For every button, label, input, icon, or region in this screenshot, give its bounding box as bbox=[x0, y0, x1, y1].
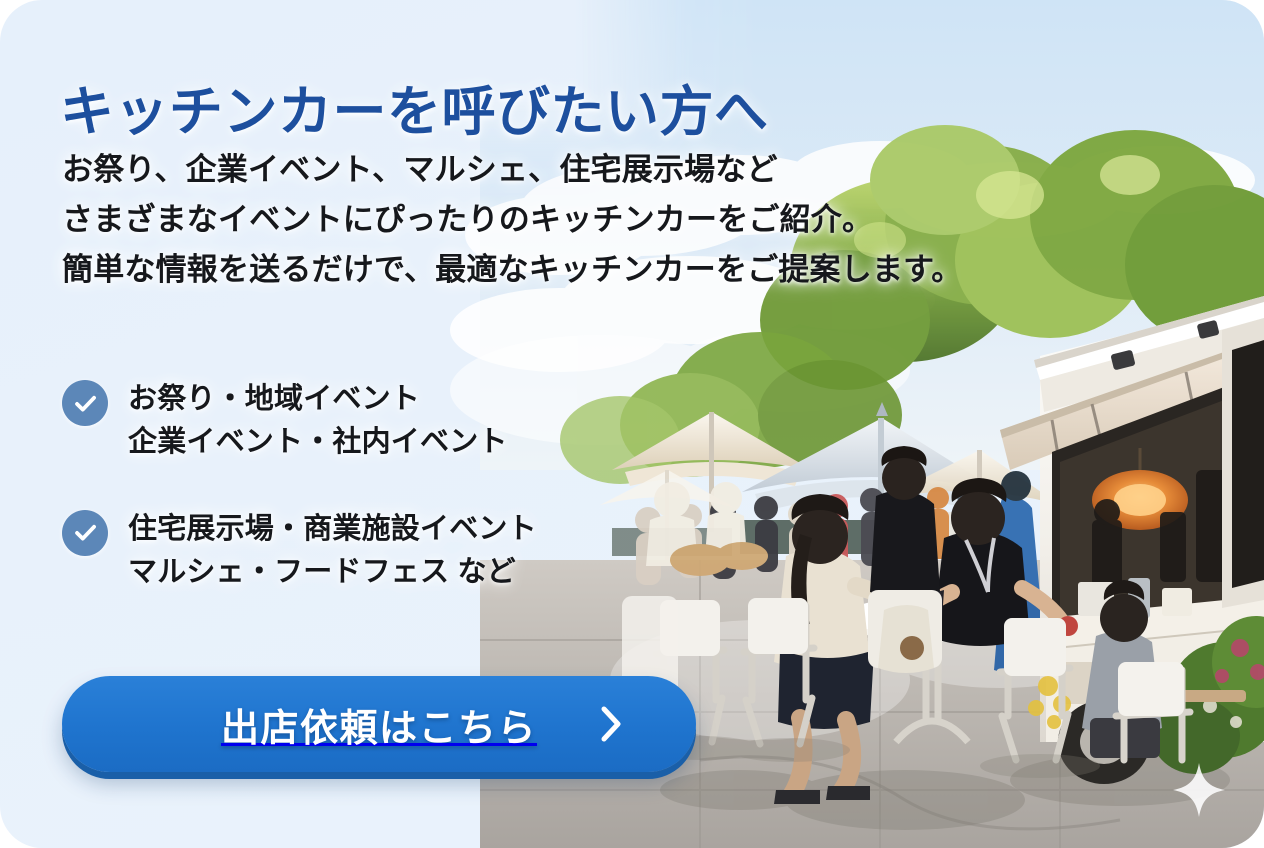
lead-line-2: さまざまなイベントにぴったりのキッチンカーをご紹介。 bbox=[62, 195, 962, 245]
checklist-text: 住宅展示場・商業施設イベント マルシェ・フードフェス など bbox=[128, 508, 537, 594]
check-circle-icon bbox=[62, 510, 108, 556]
feature-checklist: お祭り・地域イベント 企業イベント・社内イベント 住宅展示場・商業施設イベント … bbox=[62, 378, 537, 638]
lead-paragraph: お祭り、企業イベント、マルシェ、住宅展示場など さまざまなイベントにぴったりのキ… bbox=[62, 145, 962, 296]
cta-label: 出店依頼はこちら bbox=[221, 697, 537, 752]
request-application-button[interactable]: 出店依頼はこちら bbox=[62, 676, 696, 772]
checklist-text: お祭り・地域イベント 企業イベント・社内イベント bbox=[128, 378, 508, 464]
list-item: お祭り・地域イベント 企業イベント・社内イベント bbox=[62, 378, 537, 464]
chevron-right-icon bbox=[598, 704, 624, 744]
lead-line-3: 簡単な情報を送るだけで、最適なキッチンカーをご提案します。 bbox=[62, 245, 962, 295]
checklist-2-line-2: マルシェ・フードフェス など bbox=[128, 551, 537, 594]
checklist-1-line-1: お祭り・地域イベント bbox=[128, 378, 508, 421]
page-title: キッチンカーを呼びたい方へ bbox=[60, 82, 769, 142]
checklist-2-line-1: 住宅展示場・商業施設イベント bbox=[128, 508, 537, 551]
checklist-1-line-2: 企業イベント・社内イベント bbox=[128, 421, 508, 464]
sparkle-icon bbox=[1172, 762, 1226, 818]
promo-content: キッチンカーを呼びたい方へ お祭り、企業イベント、マルシェ、住宅展示場など さま… bbox=[0, 0, 1264, 848]
lead-line-1: お祭り、企業イベント、マルシェ、住宅展示場など bbox=[62, 145, 962, 195]
cta-container: 出店依頼はこちら bbox=[62, 676, 696, 772]
check-circle-icon bbox=[62, 380, 108, 426]
promo-card: キッチンカーを呼びたい方へ お祭り、企業イベント、マルシェ、住宅展示場など さま… bbox=[0, 0, 1264, 848]
list-item: 住宅展示場・商業施設イベント マルシェ・フードフェス など bbox=[62, 508, 537, 594]
